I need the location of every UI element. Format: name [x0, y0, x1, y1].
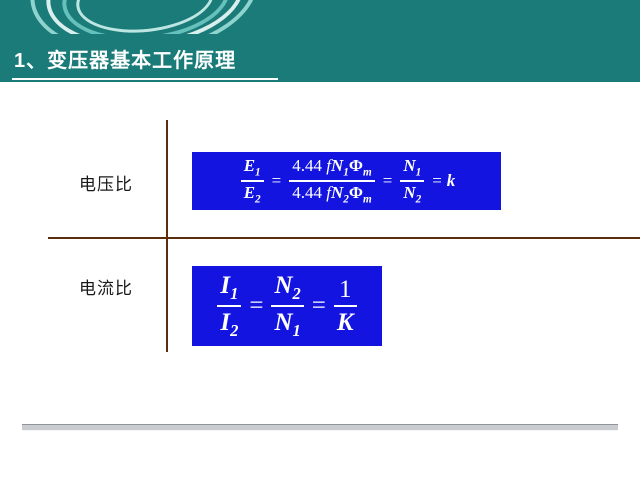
row-label-current-ratio: 电流比	[79, 274, 133, 299]
fraction-e1-e2: E1 E2	[241, 157, 264, 206]
fraction-denominator: N2	[400, 184, 424, 206]
slide-canvas: 1、变压器基本工作原理 电压比 E1 E2 = 4.44 fN1Φm 4.44 …	[0, 0, 640, 480]
fraction-denominator: 4.44 fN2Φm	[289, 184, 374, 206]
fraction-n1-n2: N1 N2	[400, 157, 424, 206]
fraction-bar	[217, 305, 241, 307]
slide-header-band: 1、变压器基本工作原理	[0, 0, 640, 82]
equals-sign: =	[272, 171, 282, 191]
fraction-numerator: E1	[241, 157, 264, 179]
equals-sign: =	[383, 171, 393, 191]
row-label-voltage-ratio: 电压比	[79, 170, 133, 195]
fraction-numerator: 4.44 fN1Φm	[289, 157, 374, 179]
formula-box-voltage-ratio: E1 E2 = 4.44 fN1Φm 4.44 fN2Φm = N1 N2 = …	[192, 152, 501, 210]
fraction-bar	[289, 180, 374, 182]
fraction-denominator: E2	[241, 184, 264, 206]
fraction-bar	[241, 180, 264, 182]
fraction-numerator: 1	[336, 276, 355, 303]
formula-box-current-ratio: I1 I2 = N2 N1 = 1 K	[192, 266, 382, 346]
equals-sign: =	[432, 171, 442, 191]
horizontal-divider	[48, 237, 640, 239]
formula-result-k: k	[447, 171, 456, 191]
fraction-numerator: N2	[271, 272, 303, 303]
formula-voltage-ratio: E1 E2 = 4.44 fN1Φm 4.44 fN2Φm = N1 N2 = …	[238, 157, 456, 206]
vertical-divider	[166, 120, 168, 352]
equals-sign: =	[249, 292, 263, 320]
equals-sign: =	[312, 292, 326, 320]
title-underline	[12, 78, 278, 80]
fraction-n2-n1: N2 N1	[271, 272, 303, 340]
fraction-i1-i2: I1 I2	[217, 272, 241, 340]
fraction-bar	[271, 305, 303, 307]
footer-rule	[22, 424, 618, 431]
fraction-numerator: I1	[217, 272, 241, 303]
fraction-bar	[334, 305, 357, 307]
fraction-emf-expression: 4.44 fN1Φm 4.44 fN2Φm	[289, 157, 374, 206]
fraction-numerator: N1	[400, 157, 424, 179]
formula-current-ratio: I1 I2 = N2 N1 = 1 K	[214, 272, 359, 340]
page-title: 1、变压器基本工作原理	[14, 44, 236, 73]
fraction-denominator: N1	[271, 309, 303, 340]
fraction-one-over-k: 1 K	[334, 276, 357, 336]
fraction-bar	[400, 180, 424, 182]
fraction-denominator: I2	[217, 309, 241, 340]
fraction-denominator: K	[334, 309, 357, 336]
